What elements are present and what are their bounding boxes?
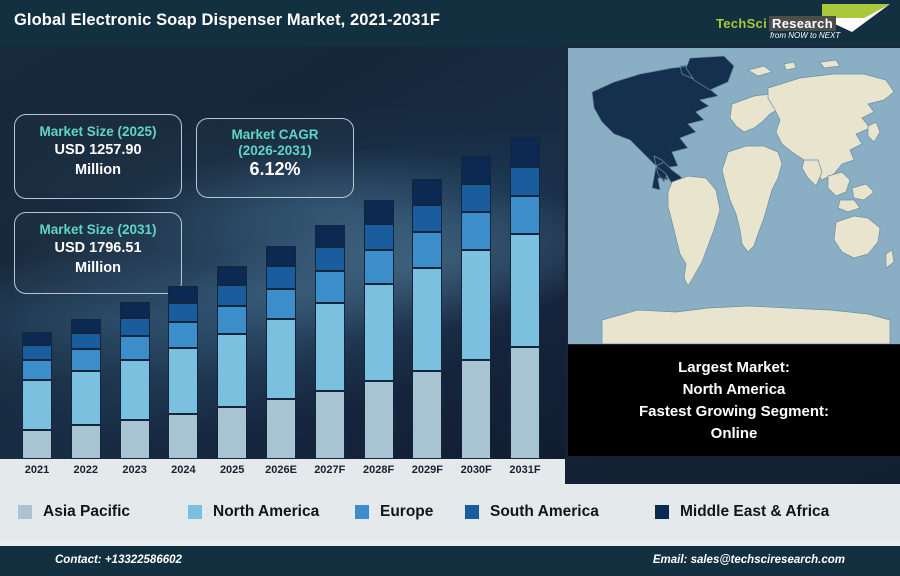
x-axis-label-2030F: 2030F bbox=[453, 464, 499, 476]
bar-2022 bbox=[71, 319, 101, 459]
logo-tagline: from NOW to NEXT bbox=[770, 31, 840, 40]
legend-swatch-icon bbox=[188, 505, 202, 519]
x-axis-label-2022: 2022 bbox=[63, 464, 109, 476]
bar-segment-europe bbox=[22, 360, 52, 380]
legend-label: Asia Pacific bbox=[43, 503, 130, 521]
bar-segment-middle-east-africa bbox=[412, 179, 442, 205]
bar-segment-asia-pacific bbox=[120, 420, 150, 459]
bar-segment-south-america bbox=[71, 333, 101, 349]
bar-segment-south-america bbox=[364, 224, 394, 250]
bar-2027F bbox=[315, 225, 345, 459]
header-bar: Global Electronic Soap Dispenser Market,… bbox=[0, 0, 900, 46]
infographic-root: Global Electronic Soap Dispenser Market,… bbox=[0, 0, 900, 576]
x-axis-label-2027F: 2027F bbox=[307, 464, 353, 476]
bar-segment-north-america bbox=[315, 303, 345, 391]
footer-email: Email: sales@techsciresearch.com bbox=[653, 554, 845, 566]
world-map bbox=[568, 48, 900, 344]
x-axis-label-2021: 2021 bbox=[14, 464, 60, 476]
bar-segment-asia-pacific bbox=[461, 360, 491, 459]
bar-segment-europe bbox=[217, 306, 247, 334]
bar-segment-europe bbox=[71, 349, 101, 371]
bar-segment-middle-east-africa bbox=[461, 156, 491, 184]
bar-segment-north-america bbox=[120, 360, 150, 420]
logo-wordmark: TechSciResearch bbox=[716, 16, 836, 31]
callout-largest-market-label: Largest Market: bbox=[678, 357, 790, 379]
x-axis-label-2025: 2025 bbox=[209, 464, 255, 476]
bar-segment-middle-east-africa bbox=[168, 286, 198, 303]
callout-fastest-segment-label: Fastest Growing Segment: bbox=[639, 401, 829, 423]
logo-brand-second: Research bbox=[769, 16, 836, 31]
bar-segment-south-america bbox=[266, 266, 296, 289]
bar-segment-north-america bbox=[217, 334, 247, 407]
bar-segment-north-america bbox=[461, 250, 491, 360]
bar-segment-north-america bbox=[510, 234, 540, 347]
bar-segment-north-america bbox=[412, 268, 442, 371]
legend-swatch-icon bbox=[18, 505, 32, 519]
bar-segment-north-america bbox=[71, 371, 101, 425]
bar-2025 bbox=[217, 266, 247, 459]
x-axis-label-2028F: 2028F bbox=[356, 464, 402, 476]
legend-label: Middle East & Africa bbox=[680, 503, 829, 521]
bar-segment-middle-east-africa bbox=[71, 319, 101, 333]
bar-segment-asia-pacific bbox=[412, 371, 442, 459]
legend-item-north-america[interactable]: North America bbox=[188, 503, 319, 521]
legend-item-south-america[interactable]: South America bbox=[465, 503, 599, 521]
legend-item-middle-east-africa[interactable]: Middle East & Africa bbox=[655, 503, 829, 521]
bar-segment-asia-pacific bbox=[315, 391, 345, 459]
bar-segment-asia-pacific bbox=[71, 425, 101, 459]
bar-segment-middle-east-africa bbox=[315, 225, 345, 247]
techsci-logo: TechSciResearch from NOW to NEXT bbox=[708, 2, 894, 44]
bar-segment-south-america bbox=[217, 285, 247, 306]
world-map-svg bbox=[568, 48, 900, 344]
bar-segment-south-america bbox=[461, 184, 491, 212]
bar-segment-europe bbox=[315, 271, 345, 303]
legend-label: South America bbox=[490, 503, 599, 521]
bar-segment-south-america bbox=[412, 205, 442, 232]
bar-segment-asia-pacific bbox=[266, 399, 296, 459]
legend-swatch-icon bbox=[355, 505, 369, 519]
legend-item-asia-pacific[interactable]: Asia Pacific bbox=[18, 503, 130, 521]
x-axis-label-2024: 2024 bbox=[160, 464, 206, 476]
x-axis: 202120222023202420252026E2027F2028F2029F… bbox=[0, 459, 565, 484]
callout-fastest-segment-value: Online bbox=[711, 423, 758, 445]
bar-segment-south-america bbox=[510, 167, 540, 196]
bar-2029F bbox=[412, 179, 442, 459]
bar-segment-middle-east-africa bbox=[266, 246, 296, 266]
footer-contact: Contact: +13322586602 bbox=[55, 554, 182, 566]
bar-segment-europe bbox=[120, 336, 150, 360]
bar-2026E bbox=[266, 246, 296, 459]
legend-swatch-icon bbox=[655, 505, 669, 519]
x-axis-label-2031F: 2031F bbox=[502, 464, 548, 476]
bar-segment-south-america bbox=[22, 345, 52, 360]
bar-segment-south-america bbox=[168, 303, 198, 322]
footer-bar: Contact: +13322586602 Email: sales@techs… bbox=[0, 546, 900, 576]
x-axis-label-2029F: 2029F bbox=[404, 464, 450, 476]
bar-segment-europe bbox=[510, 196, 540, 234]
legend-swatch-icon bbox=[465, 505, 479, 519]
x-axis-label-2026E: 2026E bbox=[258, 464, 304, 476]
callout-largest-market-value: North America bbox=[683, 379, 786, 401]
bar-2030F bbox=[461, 156, 491, 459]
bar-segment-middle-east-africa bbox=[510, 137, 540, 167]
logo-brand-first: TechSci bbox=[716, 16, 767, 31]
bar-segment-europe bbox=[461, 212, 491, 250]
bar-segment-middle-east-africa bbox=[22, 332, 52, 345]
bar-2031F bbox=[510, 137, 540, 459]
bar-segment-asia-pacific bbox=[510, 347, 540, 459]
bar-segment-middle-east-africa bbox=[217, 266, 247, 285]
bar-segment-south-america bbox=[315, 247, 345, 271]
legend-label: North America bbox=[213, 503, 319, 521]
bar-2023 bbox=[120, 302, 150, 459]
bar-segment-south-america bbox=[120, 318, 150, 336]
highlight-callout: Largest Market: North America Fastest Gr… bbox=[568, 345, 900, 456]
bar-2028F bbox=[364, 200, 394, 459]
bar-segment-north-america bbox=[22, 380, 52, 430]
bar-segment-north-america bbox=[168, 348, 198, 414]
bar-segment-asia-pacific bbox=[168, 414, 198, 459]
bar-segment-north-america bbox=[266, 319, 296, 399]
bar-2021 bbox=[22, 332, 52, 459]
bar-segment-europe bbox=[168, 322, 198, 348]
bar-segment-middle-east-africa bbox=[364, 200, 394, 224]
bar-segment-europe bbox=[266, 289, 296, 319]
stacked-bar-plot bbox=[0, 46, 565, 459]
chart-stage: Market Size (2025) USD 1257.90 Million M… bbox=[0, 46, 565, 484]
bar-2024 bbox=[168, 286, 198, 459]
bar-segment-north-america bbox=[364, 284, 394, 381]
x-axis-label-2023: 2023 bbox=[112, 464, 158, 476]
chart-legend: Asia PacificNorth AmericaEuropeSouth Ame… bbox=[0, 484, 900, 540]
page-title: Global Electronic Soap Dispenser Market,… bbox=[14, 11, 440, 30]
bar-segment-middle-east-africa bbox=[120, 302, 150, 318]
legend-label: Europe bbox=[380, 503, 433, 521]
bar-segment-asia-pacific bbox=[22, 430, 52, 459]
bar-segment-asia-pacific bbox=[217, 407, 247, 459]
map-region-antarctica bbox=[602, 306, 890, 344]
legend-item-europe[interactable]: Europe bbox=[355, 503, 433, 521]
bar-segment-asia-pacific bbox=[364, 381, 394, 459]
bar-segment-europe bbox=[364, 250, 394, 284]
bar-segment-europe bbox=[412, 232, 442, 268]
